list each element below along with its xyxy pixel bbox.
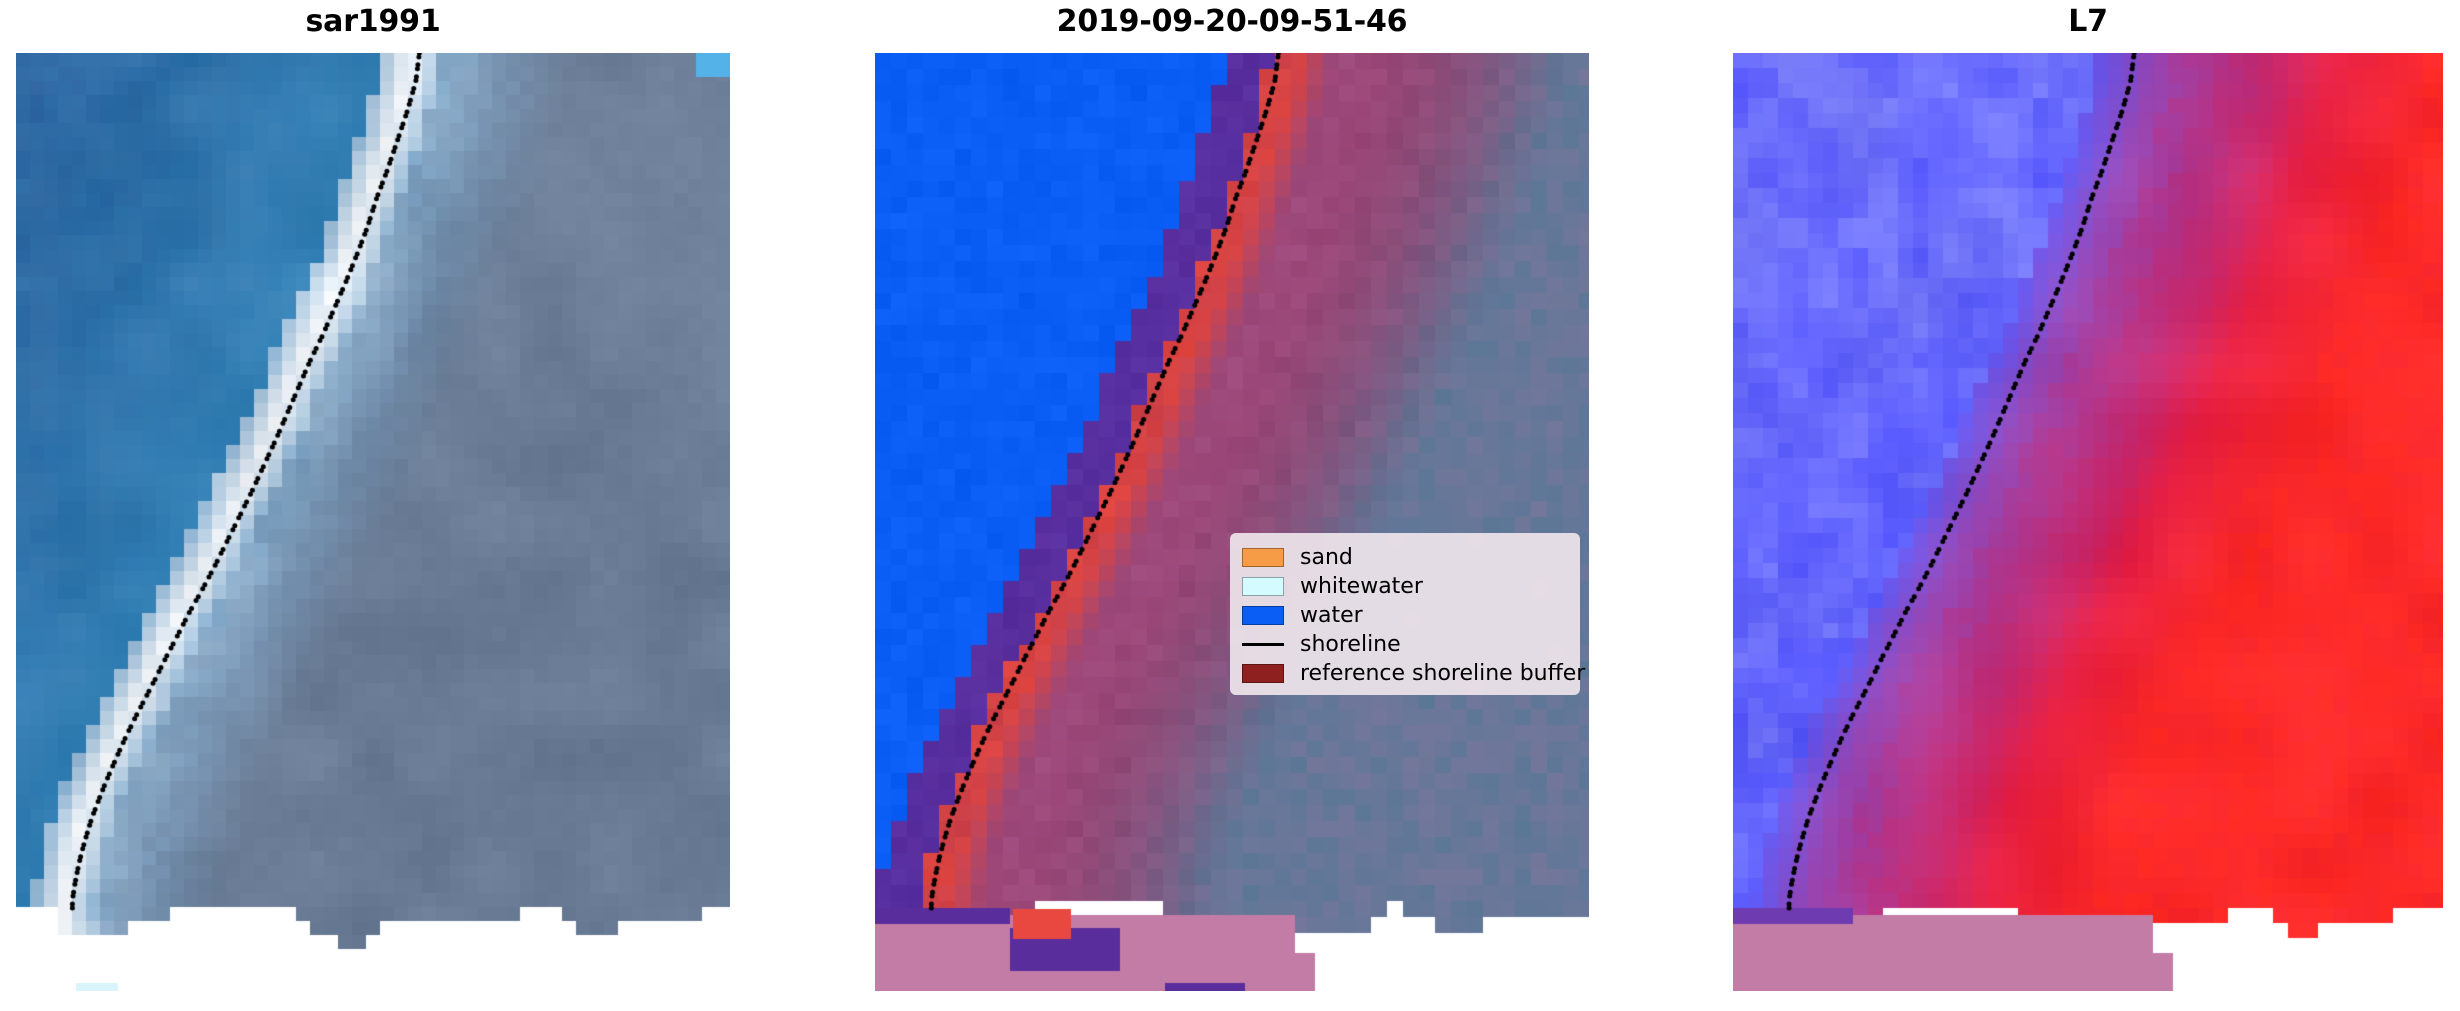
figure-root: sar1991 2019-09-20-09-51-46 L7 sand whit… bbox=[0, 0, 2460, 1011]
panel-title-1: sar1991 bbox=[16, 4, 730, 39]
legend-item-shoreline: shoreline bbox=[1242, 630, 1568, 659]
legend-swatch-shoreline bbox=[1242, 635, 1284, 654]
legend-swatch-water bbox=[1242, 606, 1284, 625]
legend-swatch-reference-buffer bbox=[1242, 664, 1284, 683]
legend-swatch-whitewater bbox=[1242, 577, 1284, 596]
legend-label-reference-buffer: reference shoreline buffer bbox=[1300, 663, 1585, 685]
image-panel-sar1991[interactable] bbox=[16, 53, 730, 991]
sar1991-raster bbox=[16, 53, 730, 991]
image-panel-l7[interactable] bbox=[1733, 53, 2443, 991]
legend-label-shoreline: shoreline bbox=[1300, 634, 1401, 656]
legend-item-water: water bbox=[1242, 601, 1568, 630]
legend-label-whitewater: whitewater bbox=[1300, 576, 1423, 598]
legend-box: sand whitewater water shoreline referenc… bbox=[1230, 533, 1580, 695]
panel-title-2: 2019-09-20-09-51-46 bbox=[875, 4, 1589, 39]
panel-title-3: L7 bbox=[1733, 4, 2443, 39]
l7-raster bbox=[1733, 53, 2443, 991]
legend-item-sand: sand bbox=[1242, 543, 1568, 572]
image-panel-classified[interactable] bbox=[875, 53, 1589, 991]
legend-item-reference-buffer: reference shoreline buffer bbox=[1242, 659, 1568, 688]
legend-label-sand: sand bbox=[1300, 547, 1353, 569]
legend-label-water: water bbox=[1300, 605, 1363, 627]
classification-raster bbox=[875, 53, 1589, 991]
legend-swatch-sand bbox=[1242, 548, 1284, 567]
legend-item-whitewater: whitewater bbox=[1242, 572, 1568, 601]
